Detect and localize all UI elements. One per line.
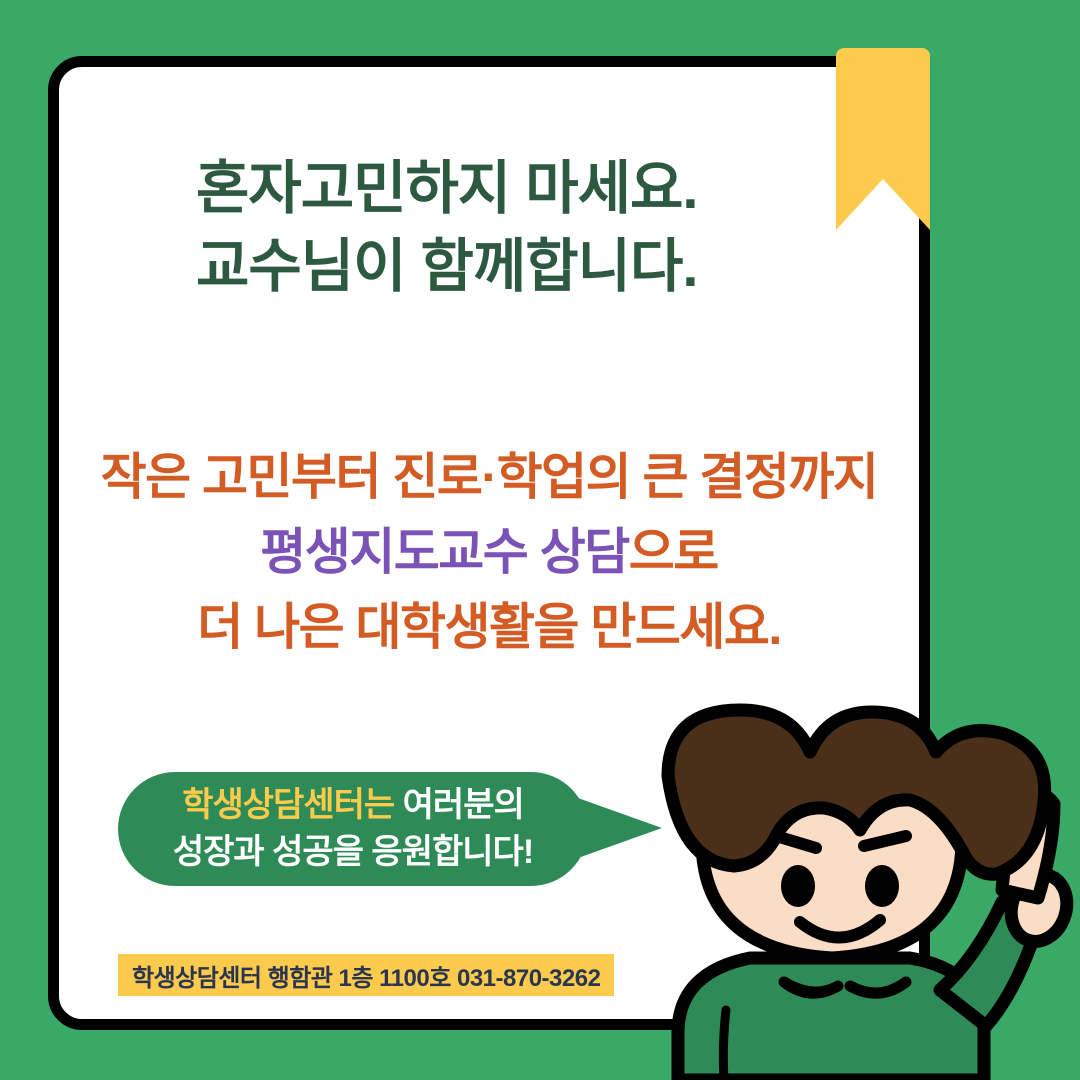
bubble-line-1-rest: 여러분의 (394, 786, 524, 824)
poster-canvas: 혼자고민하지 마세요. 교수님이 함께합니다. 작은 고민부터 진로·학업의 큰… (0, 0, 1080, 1080)
mascot-index-finger (1002, 795, 1054, 898)
speech-bubble: 학생상담센터는 여러분의 성장과 성공을 응원합니다! (118, 772, 588, 886)
mascot-thumb (1003, 867, 1075, 948)
bubble-line-2: 성장과 성공을 응원합니다! (173, 829, 533, 876)
bubble-line-1-accent: 학생상담센터는 (182, 786, 394, 824)
body-copy: 작은 고민부터 진로·학업의 큰 결정까지 평생지도교수 상담으로 더 나은 대… (48, 440, 930, 665)
bubble-line-1: 학생상담센터는 여러분의 (182, 782, 524, 829)
mascot-arm (940, 902, 1040, 1026)
body-line-2-accent: 평생지도교수 상담 (260, 524, 628, 580)
body-line-1: 작은 고민부터 진로·학업의 큰 결정까지 (48, 440, 930, 515)
speech-bubble-tail (578, 798, 662, 858)
headline-line-2: 교수님이 함께합니다. (196, 228, 882, 306)
headline-line-1: 혼자고민하지 마세요. (196, 150, 882, 228)
page-title: 혼자고민하지 마세요. 교수님이 함께합니다. (0, 150, 882, 305)
contact-info-bar: 학생상담센터 행함관 1층 1100호 031-870-3262 (118, 954, 614, 996)
body-line-3: 더 나은 대학생활을 만드세요. (48, 590, 930, 665)
contact-info-text: 학생상담센터 행함관 1층 1100호 031-870-3262 (132, 958, 600, 993)
body-line-2-tail: 으로 (629, 524, 718, 580)
body-line-2: 평생지도교수 상담으로 (48, 515, 930, 590)
